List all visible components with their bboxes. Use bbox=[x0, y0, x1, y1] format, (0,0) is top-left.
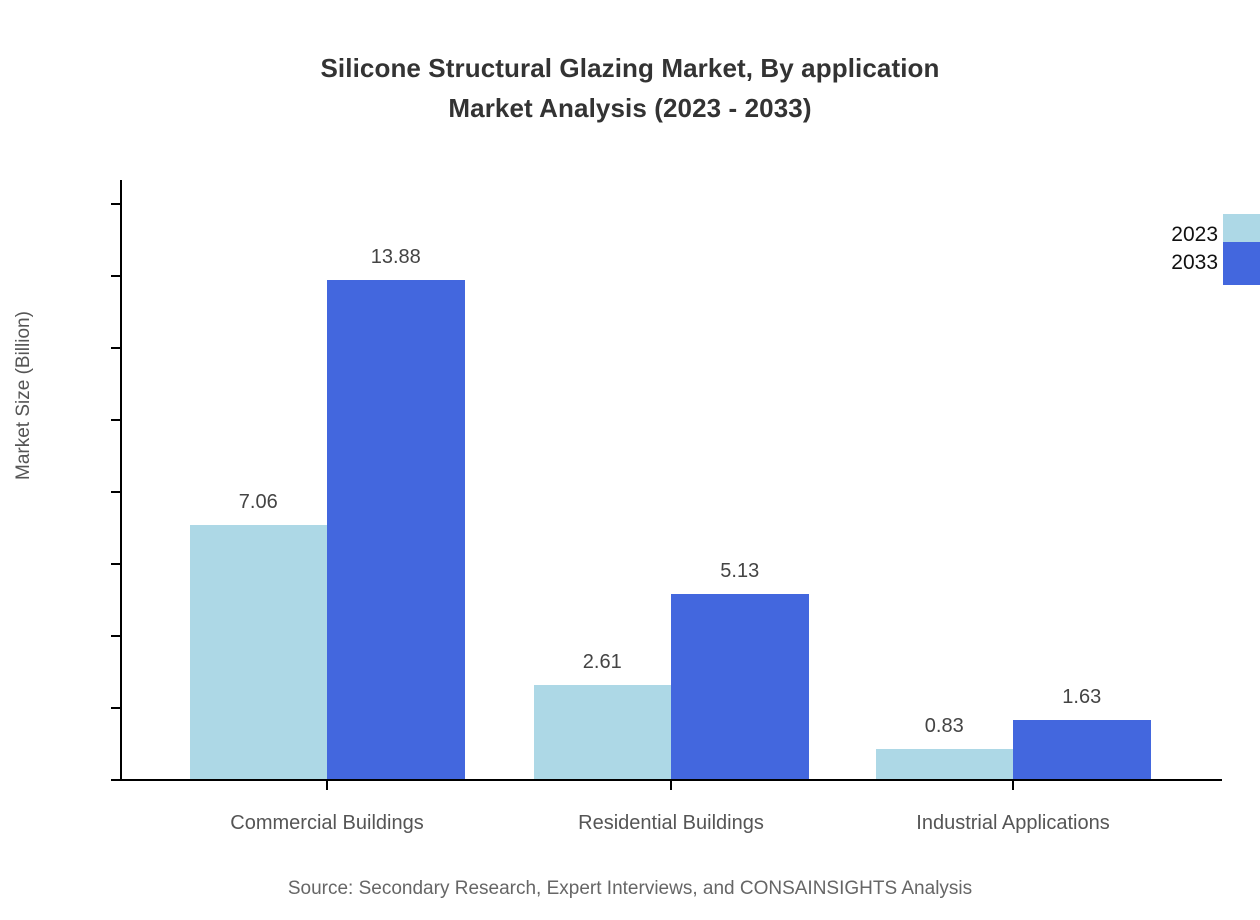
bar-2033-2[interactable] bbox=[671, 594, 809, 779]
legend-label-2023: 2023 bbox=[1130, 222, 1218, 248]
bar-2023-2[interactable] bbox=[534, 685, 672, 779]
bar-value-label: 13.88 bbox=[371, 246, 421, 269]
bar-value-label: 7.06 bbox=[239, 491, 278, 514]
x-axis-tick bbox=[326, 781, 328, 790]
bar-value-label: 2.61 bbox=[583, 651, 622, 674]
bar-value-label: 0.83 bbox=[925, 715, 964, 738]
y-axis-tick bbox=[111, 491, 120, 493]
bar-value-label: 1.63 bbox=[1062, 686, 1101, 709]
chart-title-line-2: Market Analysis (2023 - 2033) bbox=[0, 88, 1260, 128]
x-axis-category-label: Commercial Buildings bbox=[230, 812, 423, 835]
x-axis-tick bbox=[670, 781, 672, 790]
y-axis-tick bbox=[111, 347, 120, 349]
y-axis-tick bbox=[111, 275, 120, 277]
bar-2023-3[interactable] bbox=[876, 749, 1014, 779]
y-axis-tick bbox=[111, 707, 120, 709]
y-axis-tick bbox=[111, 635, 120, 637]
legend-swatch-2033 bbox=[1223, 242, 1260, 285]
chart-title-line-1: Silicone Structural Glazing Market, By a… bbox=[0, 48, 1260, 88]
chart-figure: Silicone Structural Glazing Market, By a… bbox=[0, 0, 1260, 920]
y-axis-tick bbox=[111, 779, 120, 781]
bar-2023-1[interactable] bbox=[190, 525, 328, 779]
bar-2033-3[interactable] bbox=[1013, 720, 1151, 779]
x-axis-category-label: Industrial Applications bbox=[916, 812, 1109, 835]
x-axis-tick bbox=[1012, 781, 1014, 790]
x-axis-category-label: Residential Buildings bbox=[578, 812, 764, 835]
legend-item-2033[interactable]: 2033 bbox=[1130, 250, 1260, 290]
y-axis-line bbox=[120, 180, 122, 781]
source-note: Source: Secondary Research, Expert Inter… bbox=[0, 878, 1260, 900]
y-axis-tick bbox=[111, 419, 120, 421]
bar-2033-1[interactable] bbox=[327, 280, 465, 779]
y-axis-title: Market Size (Billion) bbox=[13, 311, 35, 480]
chart-legend: 2023 2033 bbox=[1130, 210, 1260, 306]
legend-label-2033: 2033 bbox=[1130, 250, 1218, 276]
bar-value-label: 5.13 bbox=[720, 560, 759, 583]
chart-title: Silicone Structural Glazing Market, By a… bbox=[0, 48, 1260, 128]
y-axis-tick bbox=[111, 203, 120, 205]
plot-area: Commercial Buildings7.0613.88Residential… bbox=[120, 180, 1222, 781]
y-axis-tick bbox=[111, 563, 120, 565]
